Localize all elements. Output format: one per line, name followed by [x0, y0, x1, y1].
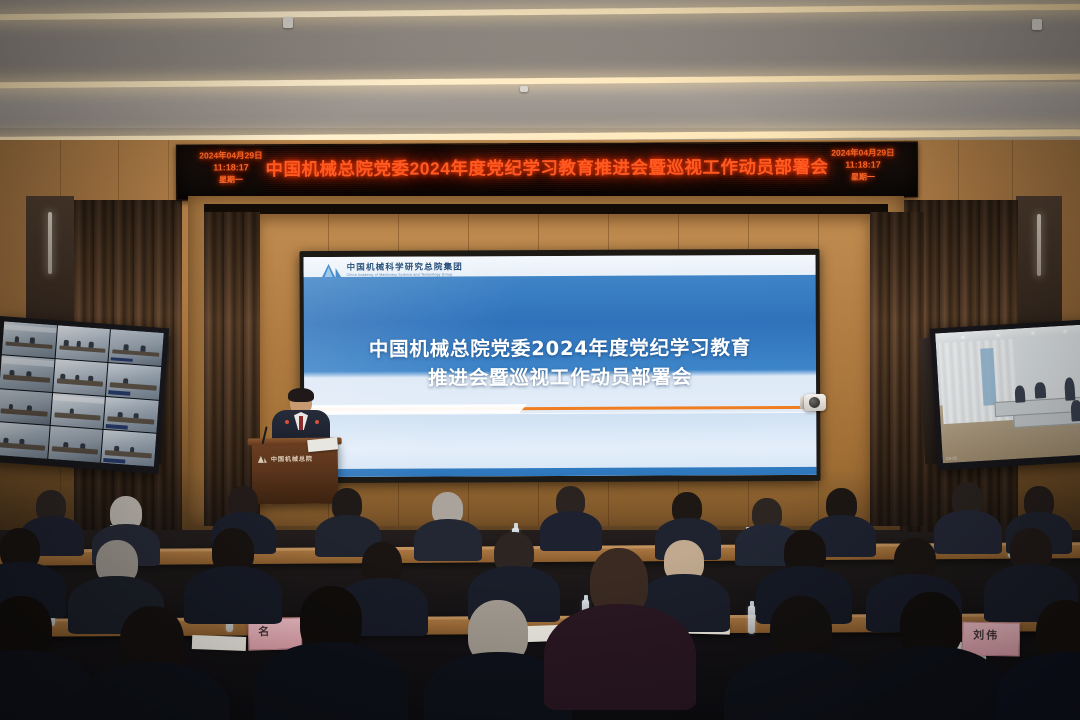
remote-attendee [1064, 377, 1076, 401]
slide-logo: 中国机械科学研究总院集团 China Academy of Machinery … [322, 262, 463, 278]
projection-screen-bezel: 中国机械科学研究总院集团 China Academy of Machinery … [299, 249, 820, 483]
video-tile [109, 329, 164, 366]
podium-triangle-logo-icon [258, 455, 267, 463]
slide-title-line1: 中国机械总院党委2024年度党纪学习教育 [304, 333, 816, 364]
remote-meeting-room-view: CH 02 [935, 325, 1080, 463]
video-tile [0, 389, 52, 426]
led-right-weekday: 星期一 [815, 171, 911, 182]
led-banner-text: 中国机械总院党委2024年度党纪学习教育推进会暨巡视工作动员部署会 [177, 153, 917, 181]
projection-screen: 中国机械科学研究总院集团 China Academy of Machinery … [304, 255, 817, 477]
left-monitor-screen [0, 321, 164, 466]
video-tile [55, 325, 110, 362]
video-conference-grid [0, 321, 164, 466]
video-tile [48, 426, 103, 463]
speaker-lapel-badge [285, 420, 289, 424]
remote-attendee [1035, 382, 1046, 399]
ceiling-panel [0, 82, 1080, 128]
right-monitor-screen: CH 02 [935, 325, 1080, 463]
slide-logo-en: China Academy of Machinery Science and T… [347, 273, 463, 277]
led-right-date: 2024年04月29日 [815, 147, 911, 158]
slide-title: 中国机械总院党委2024年度党纪学习教育 推进会暨巡视工作动员部署会 [304, 333, 816, 393]
video-tile [50, 393, 105, 430]
pillar-light [48, 212, 52, 274]
video-tile [53, 359, 108, 396]
name-placard-left-text: 名 [258, 623, 271, 639]
speaker-lapel-badge [315, 420, 319, 424]
remote-camera-label: CH 02 [946, 455, 958, 461]
video-tile [2, 321, 57, 358]
document-sheet [192, 635, 246, 651]
podium-documents [307, 437, 338, 452]
pillar-light [1037, 214, 1041, 276]
podium-org-label: 中国机械总院 [271, 454, 313, 463]
slide-logo-cn: 中国机械科学研究总院集团 [347, 263, 463, 272]
led-right-clock: 2024年04月29日 11:18:17 星期一 [815, 147, 911, 182]
video-tile [104, 397, 159, 434]
podium-label: 中国机械总院 [258, 454, 313, 464]
video-tile [106, 363, 161, 400]
right-monitor: CH 02 [930, 319, 1080, 470]
ceiling-spotlight [283, 17, 293, 28]
led-right-time: 11:18:17 [815, 158, 911, 171]
led-banner: 2024年04月29日 11:18:17 星期一 中国机械总院党委2024年度党… [176, 141, 918, 200]
slide-lower-panel [304, 413, 816, 477]
speaker-tie [299, 416, 303, 430]
video-tile [0, 422, 49, 459]
ptz-camera-icon [800, 392, 826, 416]
slide-title-line2: 推进会暨巡视工作动员部署会 [304, 362, 816, 393]
ceiling-light-strip-1 [0, 3, 1080, 21]
speaker-hair [288, 388, 314, 402]
meeting-room-photo: 2024年04月29日 11:18:17 星期一 中国机械总院党委2024年度党… [0, 0, 1080, 720]
remote-attendee [1071, 400, 1080, 421]
ceiling [0, 0, 1080, 152]
water-bottle [748, 606, 755, 634]
ceiling-spotlight [1032, 19, 1042, 30]
name-placard-right-text: 刘伟 [973, 627, 999, 643]
video-tile [0, 355, 54, 392]
video-tile [101, 430, 156, 467]
remote-attendee [1014, 385, 1025, 402]
left-monitor [0, 316, 169, 474]
ceiling-spotlight [520, 86, 528, 92]
camt-triangle-logo-icon [322, 263, 342, 278]
